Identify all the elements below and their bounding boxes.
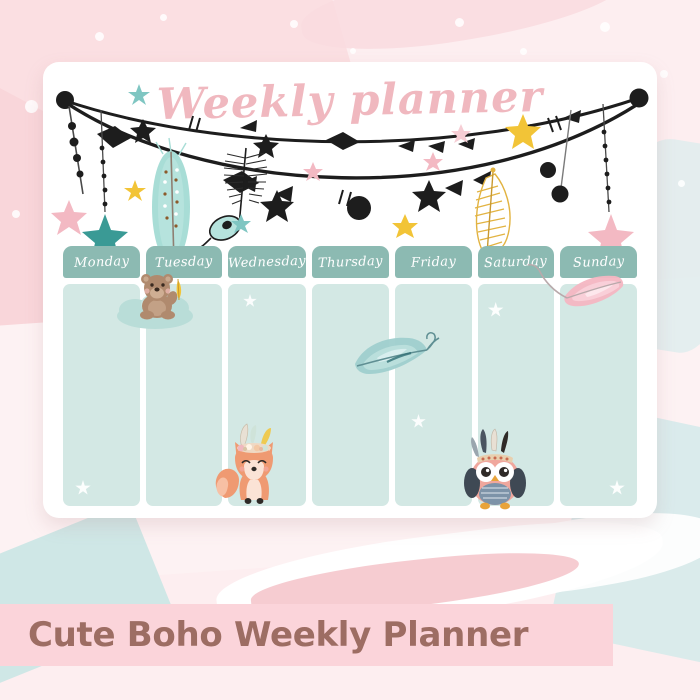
background-dot: [520, 48, 527, 55]
day-header-thursday[interactable]: Thursday: [312, 246, 389, 278]
background-dot: [12, 210, 20, 218]
day-body-tuesday[interactable]: [146, 284, 223, 506]
day-body-monday[interactable]: [63, 284, 140, 506]
day-body-sunday[interactable]: [560, 284, 637, 506]
day-body-saturday[interactable]: [478, 284, 555, 506]
background-dot: [95, 32, 104, 41]
star-watermark-icon: [488, 302, 504, 318]
bottom-banner: Cute Boho Weekly Planner: [0, 604, 613, 666]
day-label: Wednesday: [228, 253, 307, 271]
background-dot: [25, 100, 38, 113]
day-column-monday[interactable]: Monday: [63, 246, 140, 506]
banner-title: Cute Boho Weekly Planner: [28, 615, 528, 655]
day-header-monday[interactable]: Monday: [63, 246, 140, 278]
star-watermark-icon: [75, 480, 91, 496]
star-watermark-icon: [609, 480, 625, 496]
day-label: Tuesday: [155, 253, 213, 270]
day-label: Saturday: [484, 253, 548, 270]
day-header-friday[interactable]: Friday: [395, 246, 472, 278]
day-header-sunday[interactable]: Sunday: [560, 246, 637, 278]
day-label: Sunday: [573, 254, 625, 271]
day-label: Thursday: [318, 253, 383, 270]
background-dot: [350, 48, 356, 54]
day-column-sunday[interactable]: Sunday: [560, 246, 637, 506]
day-body-thursday[interactable]: [312, 284, 389, 506]
day-column-wednesday[interactable]: Wednesday: [228, 246, 306, 506]
teal-feather-art: [152, 138, 190, 262]
background-dot: [660, 70, 668, 78]
background-dot: [678, 180, 685, 187]
day-label: Monday: [73, 254, 129, 271]
day-header-saturday[interactable]: Saturday: [478, 246, 555, 278]
day-column-friday[interactable]: Friday: [395, 246, 472, 506]
background-dot: [290, 20, 298, 28]
planner-card: Weekly planner Monday Tuesday Wednesday: [43, 62, 657, 518]
day-body-friday[interactable]: [395, 284, 472, 506]
day-header-wednesday[interactable]: Wednesday: [228, 246, 306, 278]
day-body-wednesday[interactable]: [228, 284, 306, 506]
day-column-thursday[interactable]: Thursday: [312, 246, 389, 506]
background-dot: [600, 22, 610, 32]
day-column-tuesday[interactable]: Tuesday: [146, 246, 223, 506]
day-column-saturday[interactable]: Saturday: [478, 246, 555, 506]
week-grid: Monday Tuesday Wednesday Thursday: [63, 246, 637, 506]
day-label: Friday: [411, 254, 457, 271]
background-dot: [160, 14, 167, 21]
background-dot: [455, 18, 464, 27]
day-header-tuesday[interactable]: Tuesday: [146, 246, 223, 278]
